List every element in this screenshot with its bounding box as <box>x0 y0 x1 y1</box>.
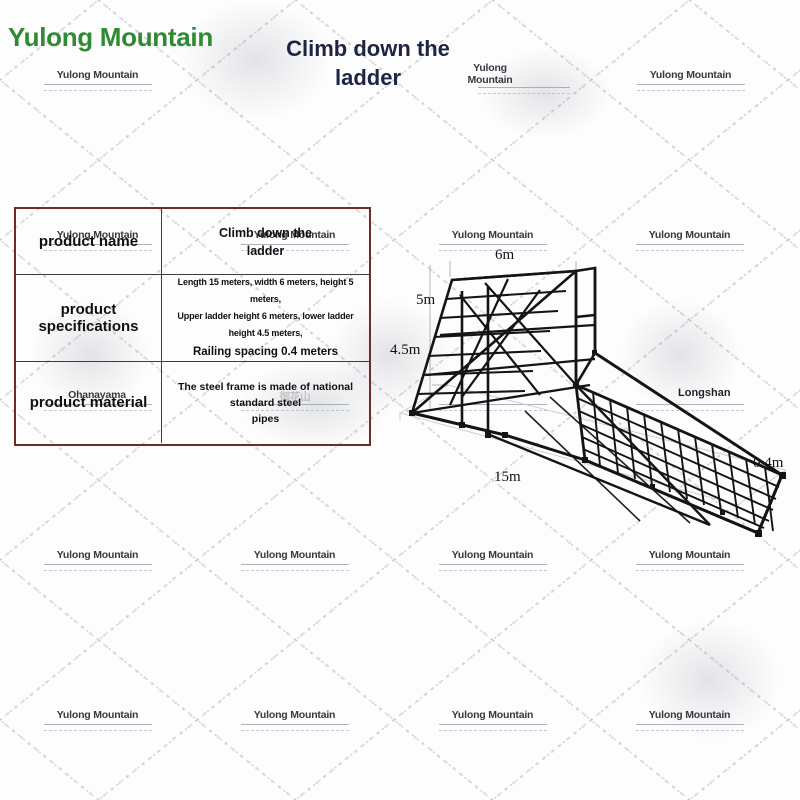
row-value-product-material: The steel frame is made of national stan… <box>162 362 369 443</box>
watermark-label: Yulong Mountain <box>242 709 347 721</box>
material-line1: The steel frame is made of national stan… <box>170 379 361 411</box>
spec-line-dimensions: Length 15 meters, width 6 meters, height… <box>170 274 361 308</box>
dimension-label-railing-spacing: 0.4m <box>753 455 783 472</box>
watermark-rule <box>439 564 547 571</box>
ladder-frame-wireframe-icon <box>390 235 800 565</box>
watermark-rule <box>636 724 744 731</box>
watermark-rule <box>241 564 349 571</box>
page-title: Climb down the ladder <box>268 34 468 92</box>
watermark-label: Yulong Mountain <box>637 709 742 721</box>
row-label-product-material: product material <box>16 362 162 443</box>
product-spec-table: product name Climb down the ladder produ… <box>14 207 371 446</box>
row-value-product-specifications: Length 15 meters, width 6 meters, height… <box>162 275 369 361</box>
product-name-line2: ladder <box>247 242 285 260</box>
table-row: product name Climb down the ladder <box>16 209 369 274</box>
watermark-label-line1: Yulong <box>473 62 507 74</box>
material-line2: pipes <box>252 411 279 427</box>
watermark-rule <box>241 724 349 731</box>
watermark-label: Yulong Mountain <box>45 69 150 81</box>
spec-line-railing-spacing: Railing spacing 0.4 meters <box>193 342 338 362</box>
watermark-label-line2: Mountain <box>467 74 512 86</box>
wm-blob <box>640 620 780 740</box>
watermark-label: Yulong Mountain <box>45 709 150 721</box>
watermark-rule <box>44 564 152 571</box>
dimension-label-height: 5m <box>416 292 435 309</box>
product-name-line1: Climb down the <box>219 224 312 242</box>
spec-line-ladder-heights: Upper ladder height 6 meters, lower ladd… <box>170 308 361 342</box>
dimension-label-width: 6m <box>495 247 514 264</box>
watermark-label: Yulong Mountain <box>242 549 347 561</box>
watermark-rule <box>439 724 547 731</box>
watermark-label: Yulong Mountain <box>440 709 545 721</box>
watermark-rule <box>44 84 152 91</box>
brand-logo: Yulong Mountain <box>8 22 213 53</box>
product-diagram: 6m 5m 4.5m 15m 0.4m Longshan <box>390 235 800 565</box>
row-value-product-name: Climb down the ladder <box>162 209 369 274</box>
watermark-label: Yulong Mountain <box>638 69 743 81</box>
wm-blob <box>480 48 610 138</box>
watermark-rule <box>44 724 152 731</box>
page-root: Yulong Mountain Yulong Mountain Yulong M… <box>0 0 800 800</box>
watermark-rule <box>636 564 744 571</box>
table-row: product material The steel frame is made… <box>16 362 369 443</box>
diagram-watermark-longshan: Longshan <box>678 387 731 399</box>
dimension-label-lower-ladder-height: 4.5m <box>390 342 420 359</box>
watermark-rule <box>637 84 745 91</box>
table-row: product specifications Length 15 meters,… <box>16 274 369 362</box>
watermark-label: Yulong Mountain <box>45 549 150 561</box>
dimension-label-length: 15m <box>494 469 521 486</box>
row-label-product-name: product name <box>16 209 162 274</box>
watermark-rule <box>478 87 570 94</box>
watermark-label-wrapped: Yulong Mountain <box>467 63 513 86</box>
row-label-product-specifications: product specifications <box>16 275 162 361</box>
